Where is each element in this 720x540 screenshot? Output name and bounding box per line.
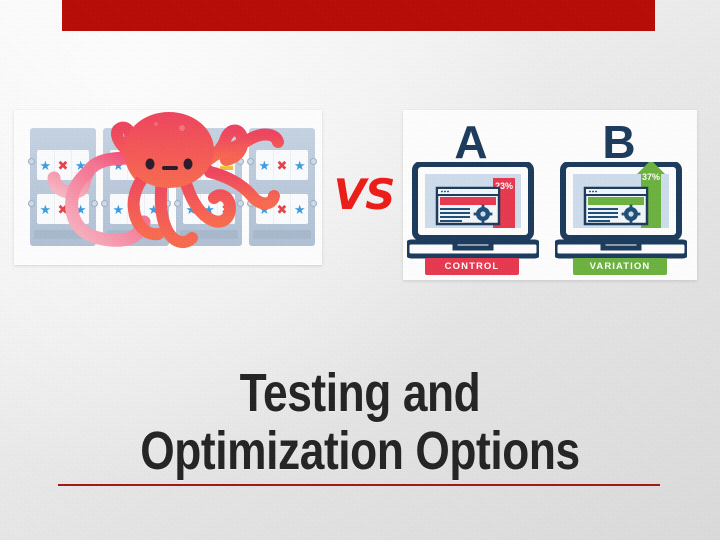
vs-label: VS — [333, 170, 395, 220]
svg-text:37%: 37% — [642, 172, 660, 182]
octopus-illustration: ★✖★ ★✖★ ★▬★ ★✖★ ★✖▬ ★★✖ ★✖★ ★✖★ — [14, 110, 322, 265]
title-underline-rule — [58, 484, 660, 486]
left-image-octopus: ★✖★ ★✖★ ★▬★ ★✖★ ★✖▬ ★★✖ ★✖★ ★✖★ — [14, 110, 322, 265]
page-title: Testing and Optimization Options — [106, 364, 614, 480]
laptop-control: 23% — [407, 162, 539, 262]
variation-badge: VARIATION — [573, 258, 667, 275]
ab-test-illustration: A B 23% — [403, 110, 697, 280]
right-image-ab-test: A B 23% — [403, 110, 697, 280]
slide-canvas: ★✖★ ★✖★ ★▬★ ★✖★ ★✖▬ ★★✖ ★✖★ ★✖★ — [0, 0, 720, 540]
octopus-icon — [14, 110, 322, 265]
laptop-variation: 37% — [555, 162, 687, 262]
variant-b-letter: B — [589, 116, 649, 168]
top-red-banner — [62, 0, 655, 31]
variant-a-letter: A — [441, 116, 501, 168]
control-badge: CONTROL — [425, 258, 519, 275]
